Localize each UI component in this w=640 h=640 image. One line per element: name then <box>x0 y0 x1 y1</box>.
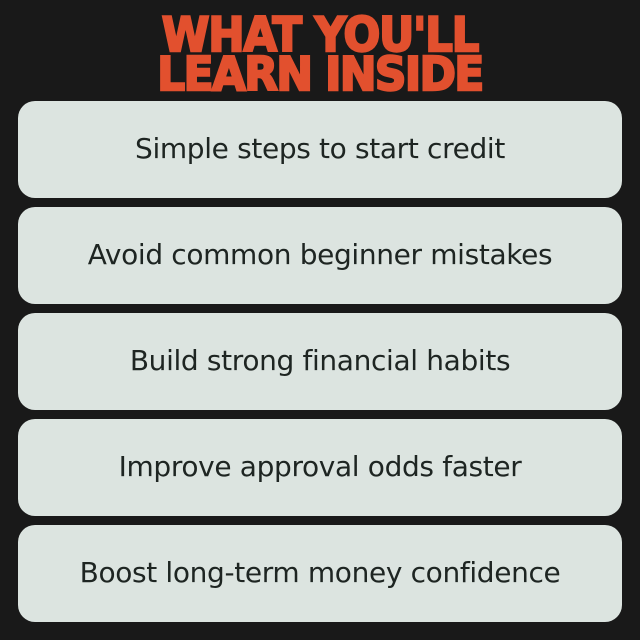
benefit-card-1[interactable]: Simple steps to start credit <box>18 101 622 198</box>
benefit-card-4[interactable]: Improve approval odds faster <box>18 419 622 516</box>
benefit-card-list: Simple steps to start credit Avoid commo… <box>0 101 640 640</box>
benefit-card-label: Build strong financial habits <box>130 345 510 377</box>
page-title: WHAT YOU'LL LEARN INSIDE <box>0 0 640 101</box>
benefit-card-3[interactable]: Build strong financial habits <box>18 313 622 410</box>
headline-line-2: LEARN INSIDE <box>16 55 624 93</box>
benefit-card-2[interactable]: Avoid common beginner mistakes <box>18 207 622 304</box>
benefit-card-5[interactable]: Boost long-term money confidence <box>18 525 622 622</box>
benefit-card-label: Simple steps to start credit <box>135 133 505 165</box>
poster-canvas: WHAT YOU'LL LEARN INSIDE Simple steps to… <box>0 0 640 640</box>
benefit-card-label: Improve approval odds faster <box>119 451 522 483</box>
benefit-card-label: Boost long-term money confidence <box>80 557 561 589</box>
benefit-card-label: Avoid common beginner mistakes <box>88 239 553 271</box>
